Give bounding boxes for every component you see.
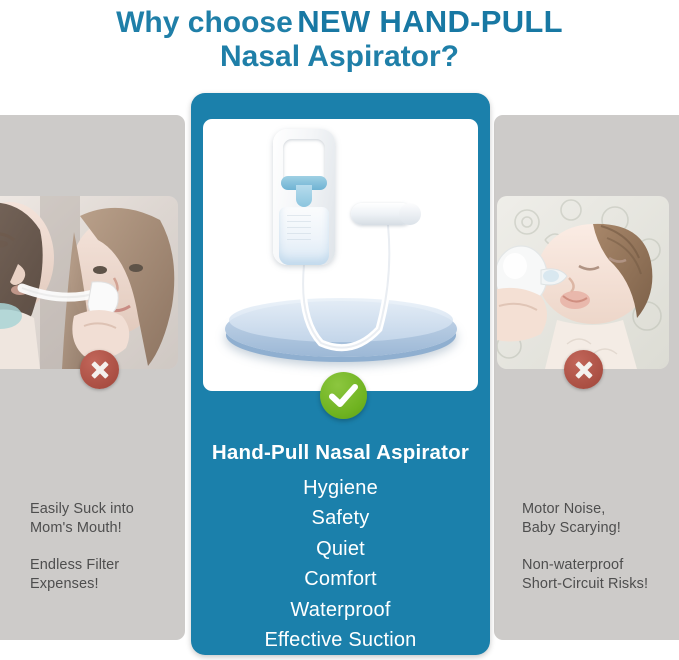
- aspirator-blue-tab: [296, 185, 312, 207]
- left-photo-image: [0, 196, 178, 369]
- right-panel-text: Motor Noise, Baby Scarying! Non-waterpro…: [522, 500, 679, 595]
- cross-icon-right: [564, 350, 603, 389]
- right-photo-image: [497, 196, 669, 369]
- feature-item: Waterproof: [191, 595, 490, 625]
- check-icon: [320, 372, 367, 419]
- feature-item: Comfort: [191, 564, 490, 594]
- right-photo: [497, 196, 669, 369]
- feature-list-items: Hygiene Safety Quiet Comfort Waterproof …: [191, 473, 490, 655]
- product-image-frame: [203, 119, 478, 391]
- headline-line-2: Nasal Aspirator?: [0, 40, 679, 74]
- chamber-measure-lines: [287, 215, 321, 255]
- headline-strong-text: NEW HAND-PULL: [297, 4, 563, 39]
- headline-line-1: Why choose NEW HAND-PULL: [0, 4, 679, 40]
- left-photo: [0, 196, 178, 369]
- headline-regular-text: Why choose: [116, 6, 293, 39]
- baby-electric-aspirator-illustration: [497, 196, 669, 369]
- check-mark-glyph: [320, 372, 367, 419]
- product-title: Hand-Pull Nasal Aspirator: [191, 441, 490, 465]
- right-text-line-1: Motor Noise,: [522, 500, 679, 519]
- feature-item: Safety: [191, 503, 490, 533]
- nasal-nozzle-tip: [399, 203, 421, 225]
- right-text-line-4: Short-Circuit Risks!: [522, 575, 679, 594]
- suction-tube: [203, 119, 478, 391]
- left-panel-text: Easily Suck into Mom's Mouth! Endless Fi…: [30, 500, 190, 595]
- product-illustration: [203, 119, 478, 391]
- mother-mouth-suction-illustration: [0, 196, 178, 369]
- left-text-line-2: Mom's Mouth!: [30, 519, 190, 538]
- right-text-line-2: Baby Scarying!: [522, 519, 679, 538]
- page-headline: Why choose NEW HAND-PULL Nasal Aspirator…: [0, 0, 679, 88]
- feature-item: Quiet: [191, 534, 490, 564]
- feature-item: Hygiene: [191, 473, 490, 503]
- left-text-line-1: Easily Suck into: [30, 500, 190, 519]
- cross-icon-left: [80, 350, 119, 389]
- right-text-line-3: Non-waterproof: [522, 556, 679, 575]
- left-text-line-3: Endless Filter: [30, 556, 190, 575]
- left-text-line-4: Expenses!: [30, 575, 190, 594]
- feature-item: Effective Suction: [191, 625, 490, 655]
- feature-list: Hygiene Safety Quiet Comfort Waterproof …: [191, 473, 490, 655]
